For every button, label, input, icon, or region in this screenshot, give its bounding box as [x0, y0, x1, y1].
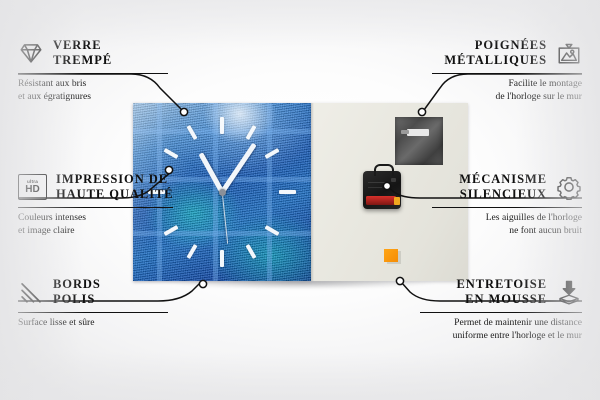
callout-header: ultra HD IMPRESSION DEHAUTE QUALITÉ — [18, 172, 173, 203]
callout-title: VERRETREMPÉ — [53, 38, 112, 69]
hanger-slot-secondary — [401, 130, 409, 134]
movement-hanging-loop — [374, 164, 394, 176]
hour-marker — [220, 250, 224, 267]
callout-header: ENTRETOISEEN MOUSSE — [420, 277, 582, 308]
callout-subtitle: Permet de maintenir une distanceuniforme… — [420, 317, 582, 342]
callout-header: POIGNÉESMÉTALLIQUES — [432, 38, 582, 69]
callout-entretoise-en-mousse: ENTRETOISEEN MOUSSE Permet de maintenir … — [420, 277, 582, 342]
infographic-canvas: VERRETREMPÉ Résistant aux briset aux égr… — [0, 0, 600, 400]
polished-edge-icon — [18, 279, 44, 305]
foam-spacer — [384, 249, 398, 262]
callout-rule — [18, 312, 168, 314]
callout-mecanisme-silencieux: MÉCANISMESILENCIEUX Les aiguilles de l'h… — [432, 172, 582, 237]
gear-icon — [556, 174, 582, 200]
hour-marker — [220, 117, 224, 134]
battery — [366, 196, 396, 205]
callout-subtitle: Surface lisse et sûre — [18, 317, 168, 329]
ultra-hd-icon: ultra HD — [18, 174, 47, 200]
diamond-icon — [18, 40, 44, 66]
callout-header: MÉCANISMESILENCIEUX — [432, 172, 582, 203]
callout-title: POIGNÉESMÉTALLIQUES — [444, 38, 547, 69]
callout-verre-trempe: VERRETREMPÉ Résistant aux briset aux égr… — [18, 38, 168, 103]
callout-header: BORDSPOLIS — [18, 277, 168, 308]
movement-detail — [368, 187, 382, 188]
callout-rule — [432, 73, 582, 75]
product-image — [133, 103, 468, 281]
callout-title: MÉCANISMESILENCIEUX — [459, 172, 547, 203]
quartz-movement — [363, 171, 401, 209]
movement-detail — [391, 178, 396, 182]
callout-subtitle: Facilite le montagede l'horloge sur le m… — [432, 78, 582, 103]
callout-header: VERRETREMPÉ — [18, 38, 168, 69]
hour-marker — [279, 190, 296, 194]
callout-impression-haute-qualite: ultra HD IMPRESSION DEHAUTE QUALITÉ Coul… — [18, 172, 173, 237]
art-grid-line — [213, 103, 218, 281]
callout-subtitle: Résistant aux briset aux égratignures — [18, 78, 168, 103]
hanger-slot — [407, 129, 429, 136]
callout-rule — [420, 312, 582, 314]
callout-title: ENTRETOISEEN MOUSSE — [456, 277, 547, 308]
battery-terminal — [394, 197, 400, 205]
callout-rule — [18, 207, 173, 209]
callout-rule — [432, 207, 582, 209]
clock-center-cap — [219, 189, 226, 196]
callout-subtitle: Les aiguilles de l'horlogene font aucun … — [432, 212, 582, 237]
callout-poignees-metalliques: POIGNÉESMÉTALLIQUES Facilite le montaged… — [432, 38, 582, 103]
picture-hanger-icon — [556, 40, 582, 66]
ultra-hd-icon-bottom: HD — [25, 185, 39, 195]
art-grid-line — [267, 103, 272, 281]
callout-bords-polis: BORDSPOLIS Surface lisse et sûre — [18, 277, 168, 330]
callout-subtitle: Couleurs intenseset image claire — [18, 212, 173, 237]
callout-title: BORDSPOLIS — [53, 277, 101, 308]
callout-title: IMPRESSION DEHAUTE QUALITÉ — [56, 172, 174, 203]
movement-detail — [368, 182, 388, 183]
callout-rule — [18, 73, 168, 75]
press-down-pad-icon — [556, 279, 582, 305]
metal-hanger-plate — [395, 117, 443, 165]
